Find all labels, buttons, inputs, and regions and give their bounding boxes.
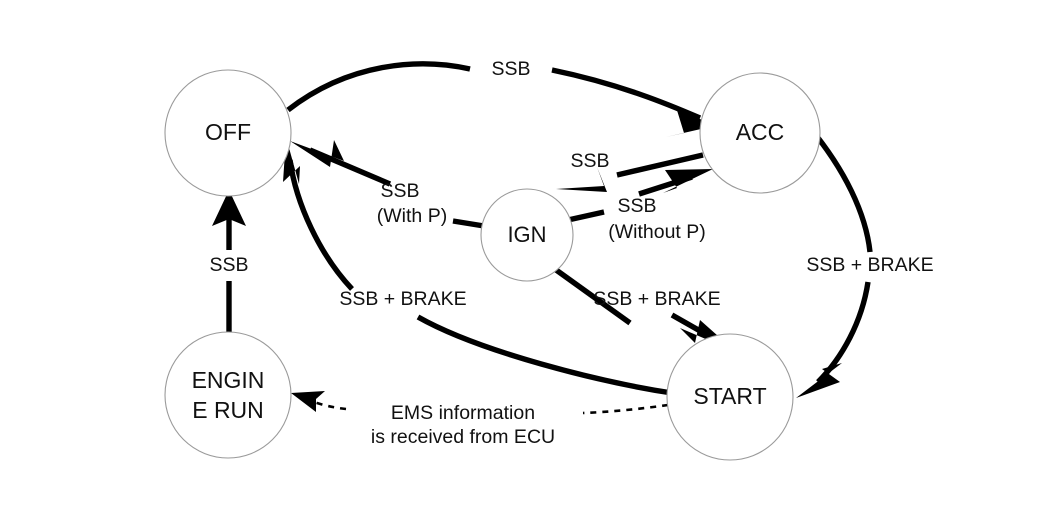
node-engine-run-circle[interactable] bbox=[165, 332, 291, 458]
edge-acc-to-start: SSB + BRAKE bbox=[796, 123, 934, 398]
edge-acc-to-start-arrowhead bbox=[796, 363, 842, 398]
edge-ign-to-acc-label-line1: SSB bbox=[617, 195, 656, 217]
edge-acc-to-start-label: SSB + BRAKE bbox=[806, 254, 933, 276]
node-engine-run[interactable]: ENGIN E RUN bbox=[165, 332, 291, 458]
node-ign[interactable]: IGN bbox=[481, 189, 573, 281]
diagram-canvas: SSB SSB SSB (Without P) SSB (With P) bbox=[0, 0, 1050, 508]
edge-ign-to-off-label-line1: SSB bbox=[380, 180, 419, 202]
edge-off-to-acc: SSB bbox=[288, 58, 714, 137]
node-start-label: START bbox=[693, 383, 766, 409]
state-diagram: SSB SSB SSB (Without P) SSB (With P) bbox=[0, 0, 1050, 508]
edge-ign-to-off: SSB (With P) bbox=[290, 140, 484, 227]
edge-ign-to-off-label-line2: (With P) bbox=[377, 205, 447, 227]
edge-off-to-acc-label: SSB bbox=[491, 58, 530, 80]
edge-ign-to-acc-arrowhead bbox=[663, 169, 713, 193]
edge-ign-to-start-label: SSB + BRAKE bbox=[593, 288, 720, 310]
node-engine-run-label-line1: ENGIN bbox=[192, 367, 265, 393]
edge-start-to-engine-label-line1: EMS information bbox=[391, 402, 535, 424]
edge-ign-to-acc-label-line2: (Without P) bbox=[608, 221, 706, 243]
edge-engine-to-off: SSB bbox=[209, 190, 248, 332]
edge-engine-to-off-label: SSB bbox=[209, 254, 248, 276]
edge-start-to-engine: EMS information is received from ECU bbox=[291, 391, 668, 448]
node-ign-label: IGN bbox=[507, 222, 546, 247]
edge-start-to-engine-path-right bbox=[583, 405, 668, 413]
edge-ign-to-acc: SSB (Without P) bbox=[568, 169, 713, 243]
node-start[interactable]: START bbox=[667, 334, 793, 460]
node-engine-run-label-line2: E RUN bbox=[192, 397, 264, 423]
edge-start-to-off-path-lower bbox=[418, 317, 672, 393]
edge-start-to-off-path-upper bbox=[290, 160, 352, 289]
edge-ign-to-acc-path bbox=[568, 212, 604, 220]
edge-start-to-engine-arrowhead bbox=[291, 391, 325, 412]
edge-off-to-acc-path-left bbox=[288, 64, 470, 110]
edge-start-to-engine-label-line2: is received from ECU bbox=[371, 426, 555, 448]
node-acc[interactable]: ACC bbox=[700, 73, 820, 193]
edge-acc-to-start-path-lower bbox=[818, 282, 868, 382]
node-off[interactable]: OFF bbox=[165, 70, 291, 196]
edge-ign-to-off-path-near-ign bbox=[453, 221, 484, 226]
edge-start-to-off-label: SSB + BRAKE bbox=[339, 288, 466, 310]
edge-start-to-off: SSB + BRAKE bbox=[283, 137, 672, 393]
edge-acc-to-ign-label: SSB bbox=[570, 150, 609, 172]
node-off-label: OFF bbox=[205, 119, 251, 145]
node-acc-label: ACC bbox=[736, 119, 785, 145]
